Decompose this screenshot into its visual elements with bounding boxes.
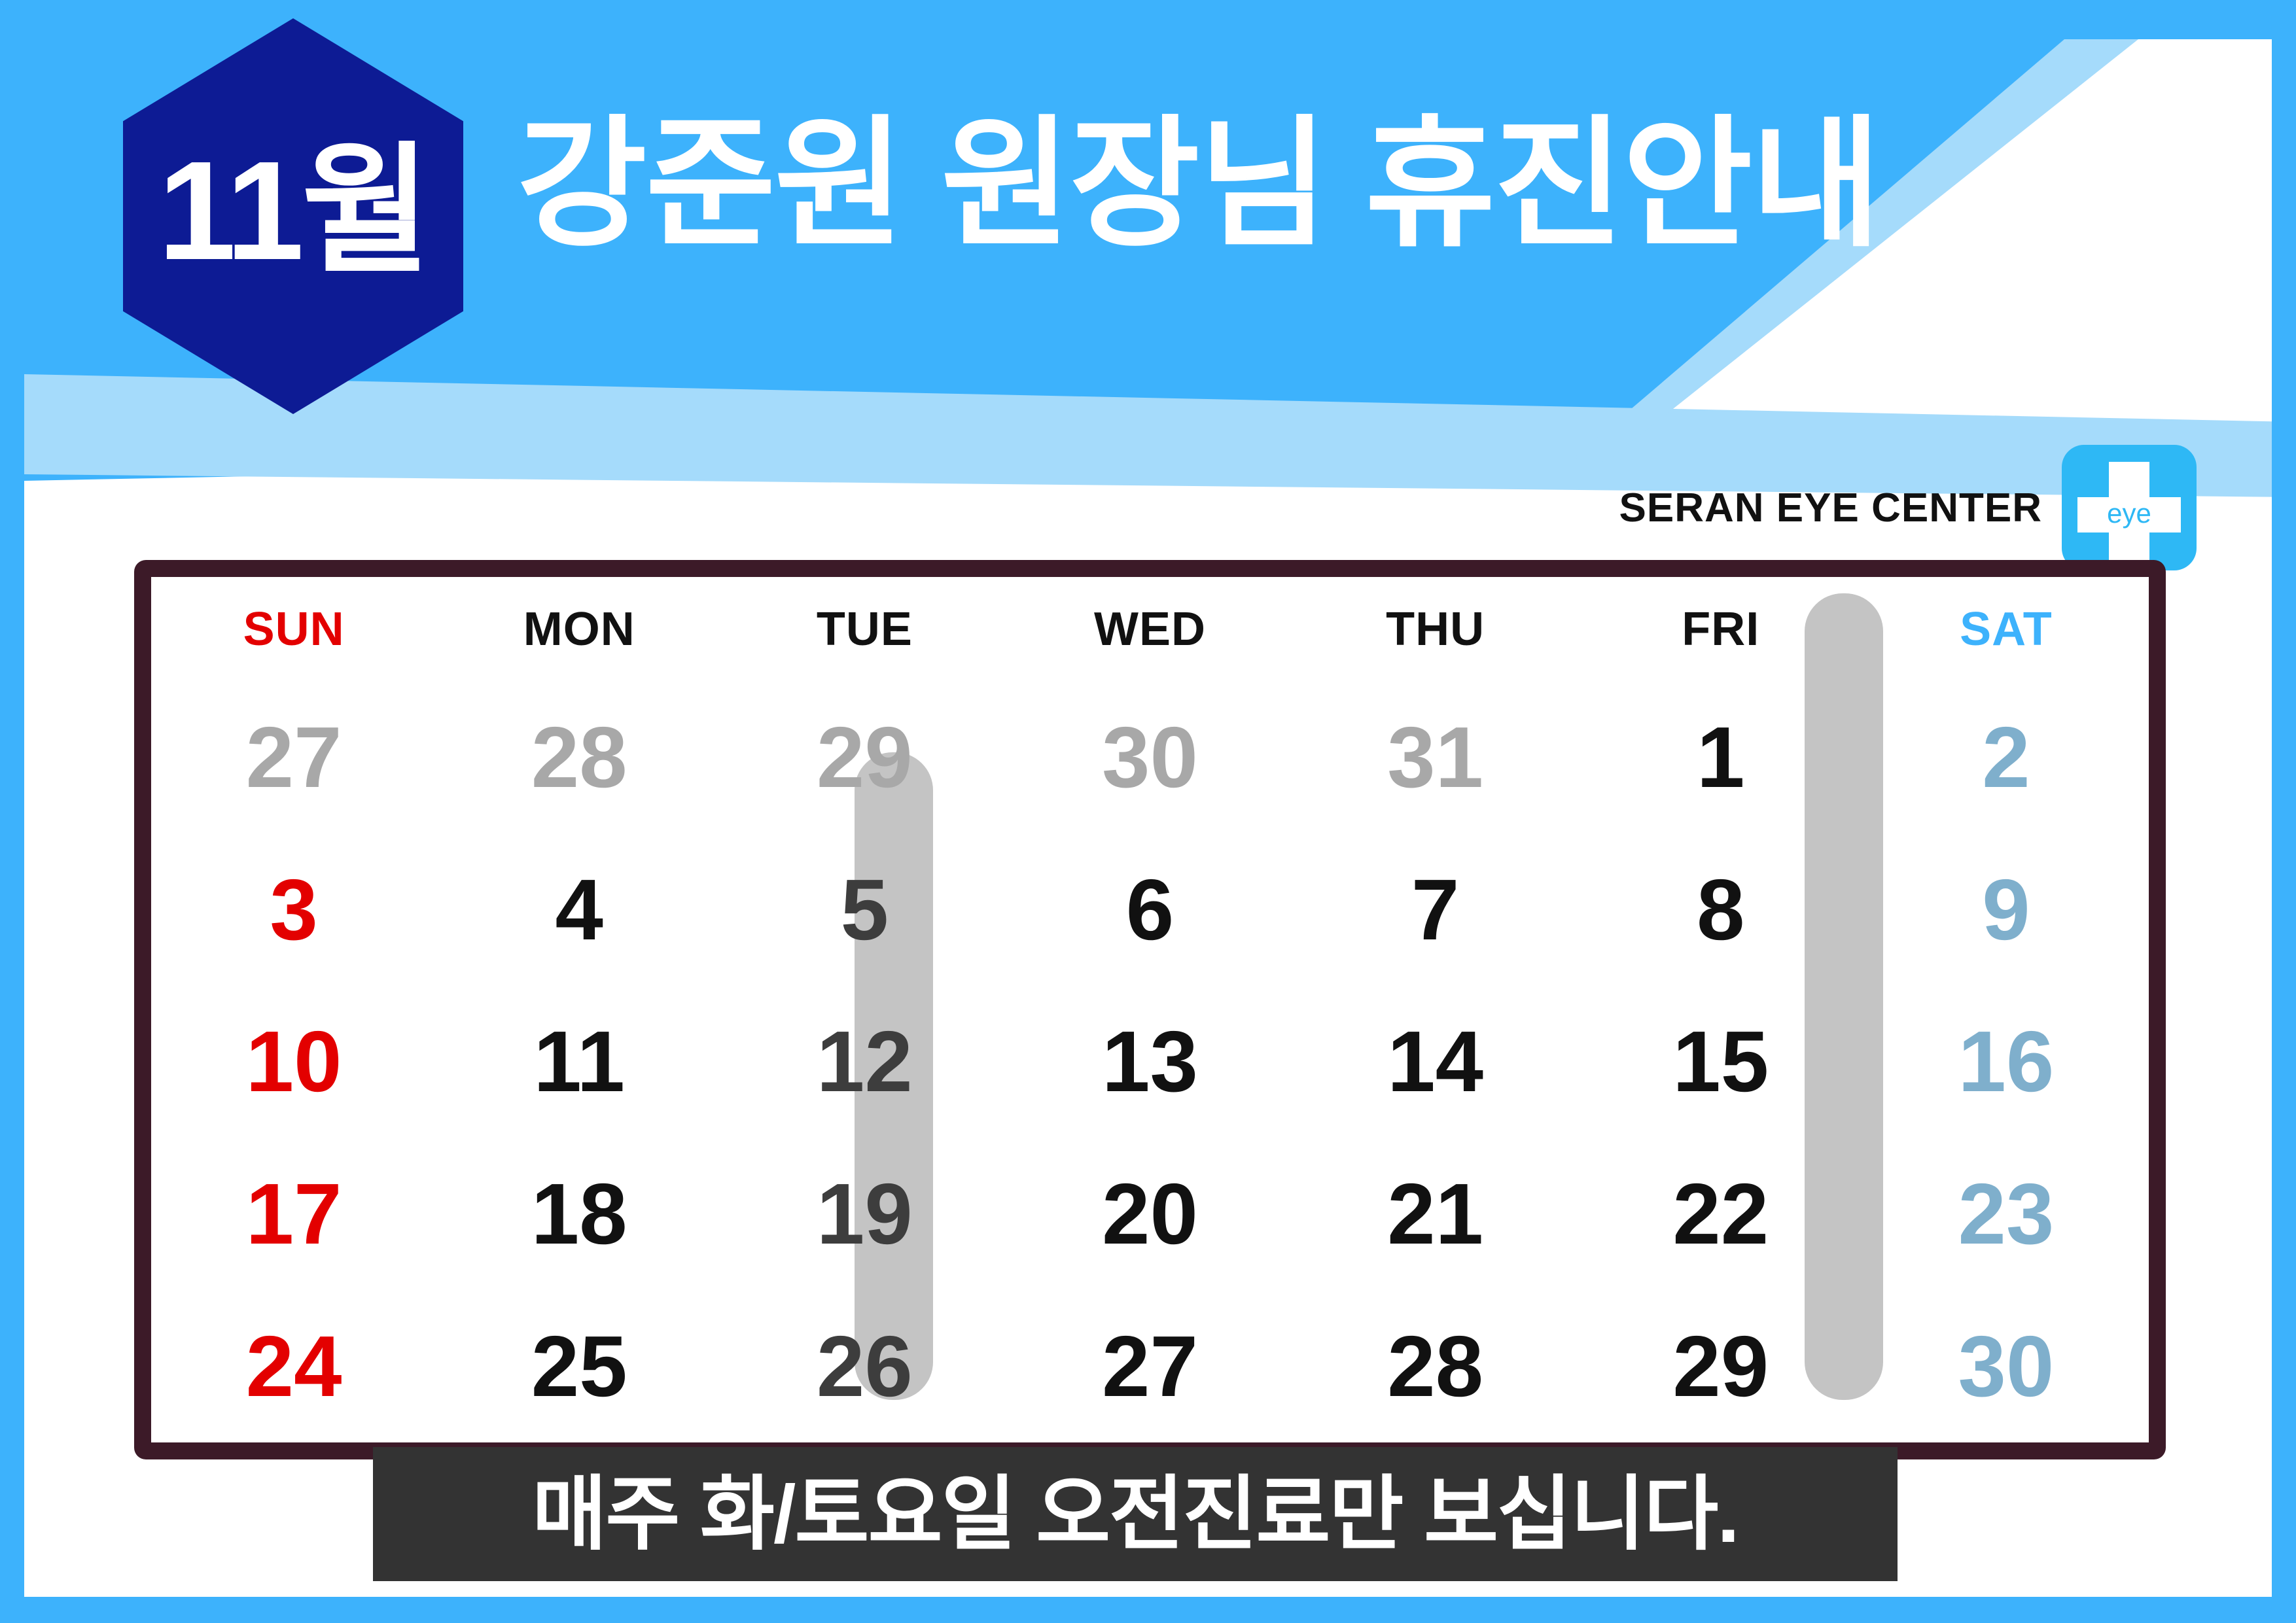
calendar-day-cell: 29 [1578, 1290, 1863, 1442]
calendar-day-cell: 27 [1007, 1290, 1292, 1442]
calendar-inner: SUNMONTUEWEDTHUFRISAT2728293031123456789… [151, 577, 2149, 1442]
poster-canvas: 11월 강준원 원장님 휴진안내 SERAN EYE CENTER eye SU… [0, 0, 2296, 1623]
calendar-day-cell: 30 [1863, 1290, 2149, 1442]
weekday-header-mon: MON [436, 577, 722, 682]
background-right-rail [2272, 0, 2296, 1623]
calendar-day-cell: 17 [151, 1138, 436, 1291]
calendar-day-cell: 6 [1007, 834, 1292, 986]
calendar-day-cell: 23 [1863, 1138, 2149, 1291]
weekday-header-fri: FRI [1578, 577, 1863, 682]
background-bottom-rail [0, 1597, 2296, 1623]
calendar-day-cell: 4 [436, 834, 722, 986]
calendar-day-cell: 25 [436, 1290, 722, 1442]
calendar-day-cell: 3 [151, 834, 436, 986]
brand-block: SERAN EYE CENTER eye [1619, 445, 2197, 570]
calendar-day-cell: 24 [151, 1290, 436, 1442]
calendar-day-cell: 21 [1293, 1138, 1578, 1291]
notice-text: 매주 화/토요일 오전진료만 보십니다. [532, 1474, 1738, 1555]
brand-name: SERAN EYE CENTER [1619, 485, 2042, 531]
calendar-day-cell: 12 [722, 986, 1007, 1138]
calendar-frame: SUNMONTUEWEDTHUFRISAT2728293031123456789… [134, 560, 2166, 1459]
calendar-day-cell: 31 [1293, 682, 1578, 834]
calendar-day-cell: 1 [1578, 682, 1863, 834]
calendar-grid: SUNMONTUEWEDTHUFRISAT2728293031123456789… [151, 577, 2149, 1442]
logo-eye-word: eye [2062, 500, 2197, 527]
weekday-header-tue: TUE [722, 577, 1007, 682]
weekday-header-sun: SUN [151, 577, 436, 682]
calendar-day-cell: 10 [151, 986, 436, 1138]
calendar-day-cell: 15 [1578, 986, 1863, 1138]
calendar-day-cell: 28 [1293, 1290, 1578, 1442]
calendar-day-cell: 27 [151, 682, 436, 834]
calendar-day-cell: 30 [1007, 682, 1292, 834]
calendar-day-cell: 28 [436, 682, 722, 834]
calendar-day-cell: 16 [1863, 986, 2149, 1138]
calendar-day-cell: 8 [1578, 834, 1863, 986]
calendar-day-cell: 13 [1007, 986, 1292, 1138]
calendar-day-cell: 18 [436, 1138, 722, 1291]
background-left-rail [0, 0, 24, 1623]
page-title: 강준원 원장님 휴진안내 [517, 110, 1880, 258]
calendar-day-cell: 5 [722, 834, 1007, 986]
calendar-day-cell: 2 [1863, 682, 2149, 834]
calendar-day-cell: 11 [436, 986, 722, 1138]
weekday-header-thu: THU [1293, 577, 1578, 682]
notice-bar: 매주 화/토요일 오전진료만 보십니다. [373, 1447, 1898, 1581]
calendar-day-cell: 26 [722, 1290, 1007, 1442]
medical-cross-icon: eye [2062, 445, 2197, 570]
calendar-day-cell: 22 [1578, 1138, 1863, 1291]
calendar-day-cell: 9 [1863, 834, 2149, 986]
weekday-header-wed: WED [1007, 577, 1292, 682]
calendar-day-cell: 20 [1007, 1138, 1292, 1291]
calendar-day-cell: 14 [1293, 986, 1578, 1138]
weekday-header-sat: SAT [1863, 577, 2149, 682]
calendar-day-cell: 19 [722, 1138, 1007, 1291]
month-badge-label: 11월 [158, 140, 428, 281]
calendar-day-cell: 7 [1293, 834, 1578, 986]
calendar-day-cell: 29 [722, 682, 1007, 834]
